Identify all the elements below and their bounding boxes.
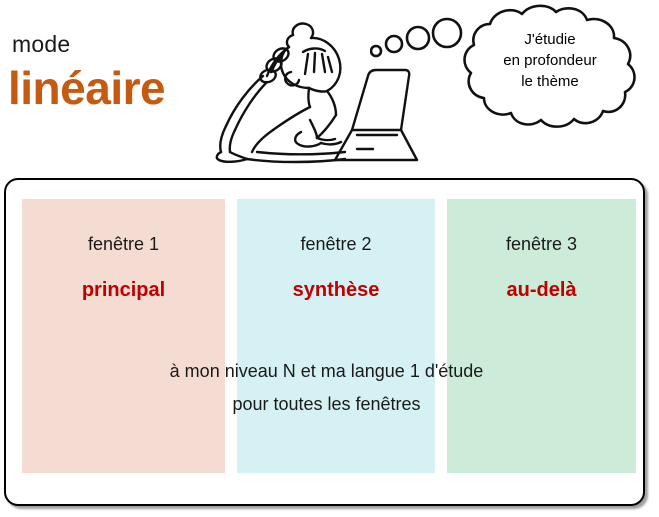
header-area: mode linéaire	[0, 0, 659, 178]
window-panel-1-caption: fenêtre 1	[22, 233, 225, 255]
window-panel-3-name: au-delà	[447, 278, 636, 302]
thought-dot-4	[433, 19, 461, 47]
window-panel-2-caption: fenêtre 2	[237, 233, 435, 255]
thought-line-2: en profondeur	[460, 50, 640, 71]
window-panel-2-name: synthèse	[237, 278, 435, 302]
thought-bubble: J'étudie en profondeur le thème	[370, 2, 659, 137]
mode-kicker-label: mode	[12, 31, 70, 57]
window-panel-2[interactable]: fenêtre 2 synthèse	[237, 199, 435, 473]
thought-bubble-text: J'étudie en profondeur le thème	[460, 29, 640, 92]
thought-line-3: le thème	[460, 71, 640, 92]
window-panel-1-name: principal	[22, 278, 225, 302]
thought-dot-2	[386, 36, 402, 52]
windows-diagram-frame: fenêtre 1 principal fenêtre 2 synthèse f…	[4, 178, 645, 506]
window-panel-3[interactable]: fenêtre 3 au-delà	[447, 199, 636, 473]
window-panel-3-caption: fenêtre 3	[447, 233, 636, 255]
thought-dot-1	[371, 46, 381, 56]
window-panel-1[interactable]: fenêtre 1 principal	[22, 199, 225, 473]
page-title: linéaire	[8, 62, 165, 114]
thought-dot-3	[407, 27, 429, 49]
thought-line-1: J'étudie	[460, 29, 640, 50]
